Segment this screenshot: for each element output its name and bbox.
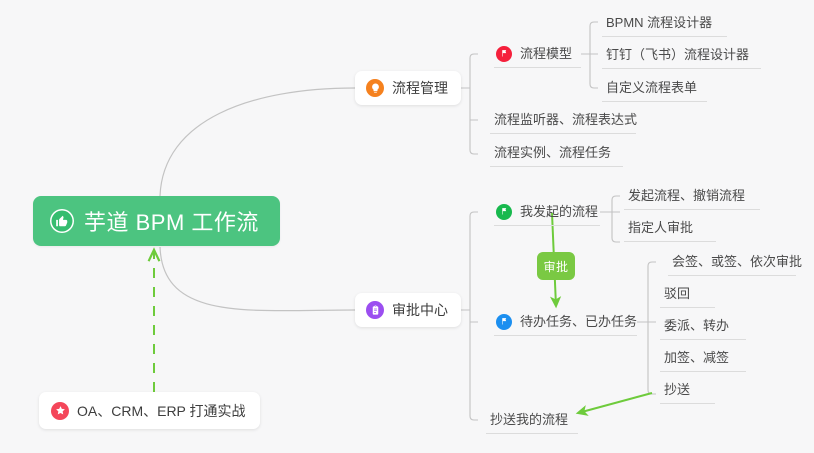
bracket-tasks-children	[637, 262, 656, 394]
leaf-delegate-transfer[interactable]: 委派、转办	[660, 314, 746, 340]
branch-node-approval-center[interactable]: 审批中心	[355, 293, 461, 327]
root-label: 芋道 BPM 工作流	[84, 205, 259, 237]
branch-label-process-management: 流程管理	[392, 78, 448, 98]
leaf-my-started-process[interactable]: 我发起的流程	[494, 200, 600, 226]
root-node[interactable]: 芋道 BPM 工作流	[33, 196, 280, 246]
leaf-cc-to-me-process[interactable]: 抄送我的流程	[486, 408, 578, 434]
leaf-label-process-listener: 流程监听器、流程表达式	[494, 112, 637, 127]
leaf-process-listener[interactable]: 流程监听器、流程表达式	[490, 108, 636, 134]
bracket-model-children	[581, 22, 598, 88]
curve-root-to-approval	[160, 247, 355, 311]
leaf-label-assignee-approval: 指定人审批	[628, 220, 693, 235]
curve-root-to-process	[160, 88, 355, 196]
leaf-label-todo-done-tasks: 待办任务、已办任务	[520, 313, 637, 330]
leaf-add-remove-sign[interactable]: 加签、减签	[660, 346, 746, 372]
approval-flow-tag: 审批	[537, 252, 575, 280]
flag-icon	[496, 46, 512, 62]
branch-label-approval-center: 审批中心	[392, 300, 448, 320]
leaf-reject[interactable]: 驳回	[660, 282, 715, 308]
practice-callout-node[interactable]: OA、CRM、ERP 打通实战	[39, 392, 260, 429]
cc-link-arrow	[578, 393, 652, 413]
leaf-label-countersign: 会签、或签、依次审批	[672, 254, 802, 269]
leaf-process-instance[interactable]: 流程实例、流程任务	[490, 141, 623, 167]
leaf-label-process-model: 流程模型	[520, 45, 572, 62]
clipboard-icon	[366, 301, 384, 319]
approval-flow-tag-label: 审批	[543, 258, 568, 275]
leaf-countersign[interactable]: 会签、或签、依次审批	[668, 250, 796, 276]
leaf-label-delegate-transfer: 委派、转办	[664, 318, 729, 333]
leaf-bpmn-designer[interactable]: BPMN 流程设计器	[602, 11, 727, 37]
leaf-label-my-started-process: 我发起的流程	[520, 203, 598, 220]
leaf-process-model[interactable]: 流程模型	[494, 42, 581, 68]
leaf-todo-done-tasks[interactable]: 待办任务、已办任务	[494, 310, 637, 336]
flag-icon	[496, 314, 512, 330]
leaf-label-bpmn-designer: BPMN 流程设计器	[606, 15, 712, 30]
thumbs-up-icon	[50, 209, 74, 233]
bracket-process-children	[461, 54, 478, 154]
flag-icon	[496, 204, 512, 220]
bracket-approval-children	[461, 212, 478, 420]
leaf-label-custom-form: 自定义流程表单	[606, 80, 697, 95]
leaf-label-start-cancel-process: 发起流程、撤销流程	[628, 188, 745, 203]
branch-node-process-management[interactable]: 流程管理	[355, 71, 461, 105]
leaf-label-dingtalk-designer: 钉钉（飞书）流程设计器	[606, 47, 749, 62]
lightbulb-icon	[366, 79, 384, 97]
leaf-label-reject: 驳回	[664, 286, 690, 301]
leaf-dingtalk-designer[interactable]: 钉钉（飞书）流程设计器	[602, 43, 761, 69]
bracket-started-children	[600, 196, 620, 242]
leaf-custom-form[interactable]: 自定义流程表单	[602, 76, 707, 102]
mindmap-canvas: 芋道 BPM 工作流 OA、CRM、ERP 打通实战 流程管理 流程模型 BPM…	[0, 0, 814, 453]
leaf-assignee-approval[interactable]: 指定人审批	[624, 216, 716, 242]
leaf-label-add-remove-sign: 加签、减签	[664, 350, 729, 365]
leaf-label-cc: 抄送	[664, 382, 690, 397]
leaf-cc[interactable]: 抄送	[660, 378, 715, 404]
star-icon	[51, 402, 69, 420]
practice-callout-label: OA、CRM、ERP 打通实战	[77, 401, 246, 421]
leaf-label-process-instance: 流程实例、流程任务	[494, 145, 611, 160]
leaf-label-cc-to-me-process: 抄送我的流程	[490, 412, 568, 427]
leaf-start-cancel-process[interactable]: 发起流程、撤销流程	[624, 184, 760, 210]
